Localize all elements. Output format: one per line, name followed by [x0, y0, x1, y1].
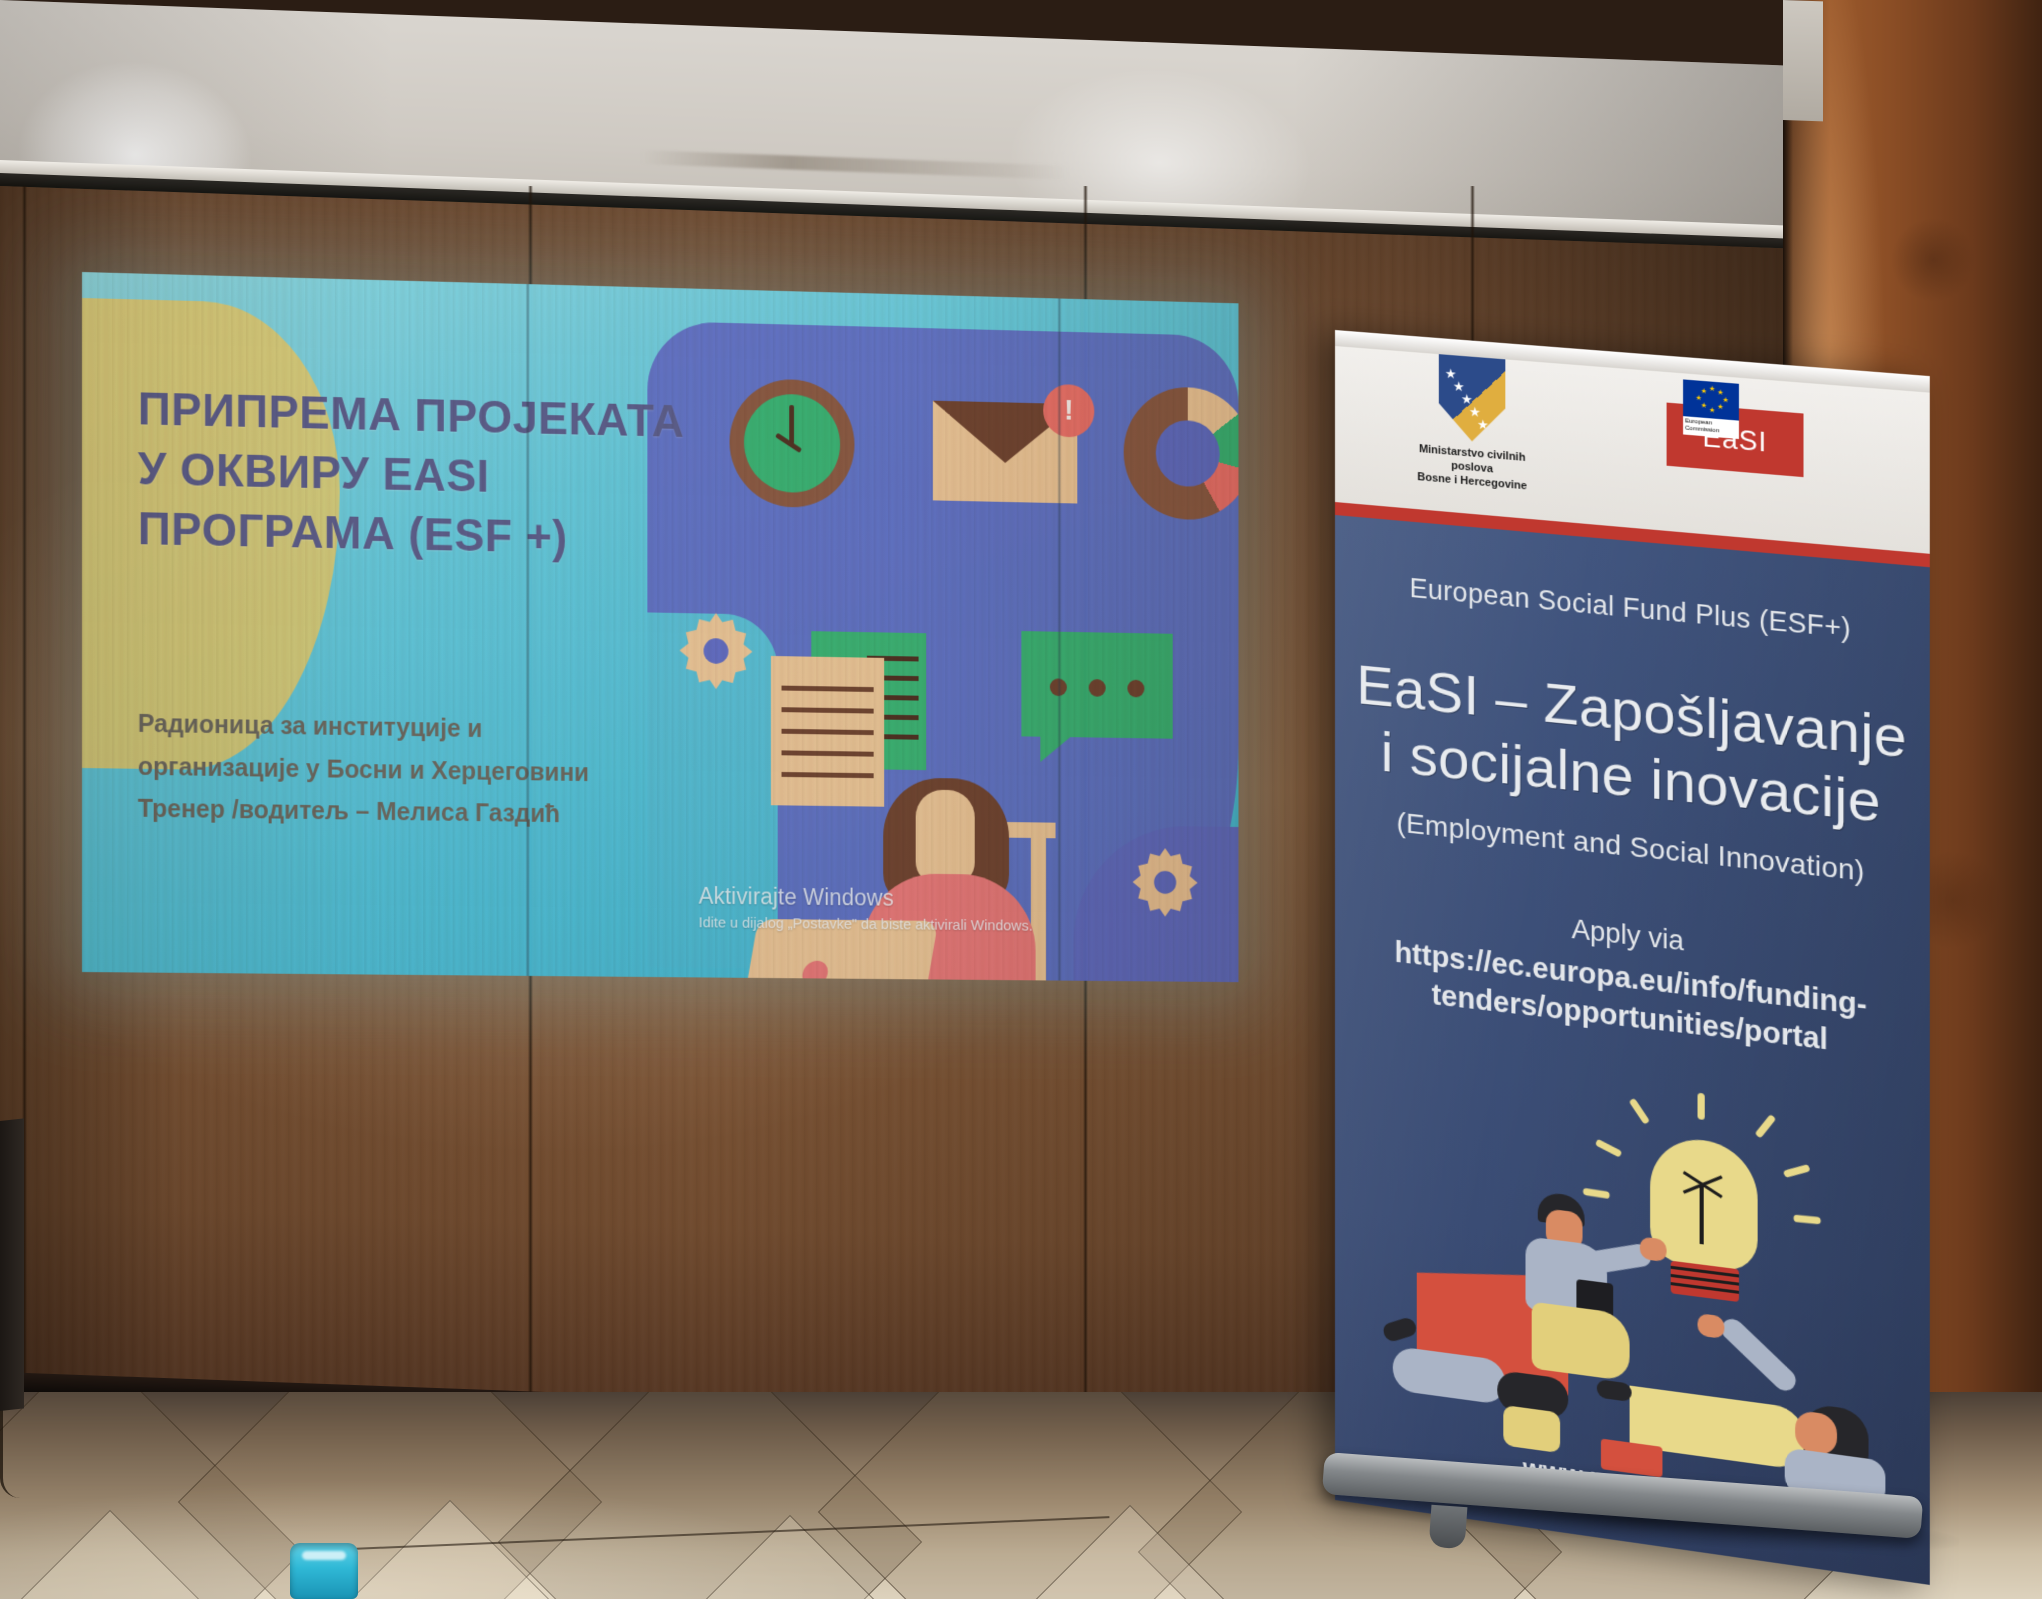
windows-activation-watermark: Aktivirajte Windows Idite u dijalog „Pos… [699, 883, 1044, 936]
bih-coat-of-arms-icon: ★ ★ ★ ★ ★ [1439, 354, 1506, 444]
banner-person-shoe-icon [1381, 1316, 1419, 1343]
eu-star-icon: ★ [1717, 389, 1724, 397]
eu-star-icon: ★ [1709, 386, 1715, 394]
watermark-title: Aktivirajte Windows [699, 883, 1044, 913]
eu-star-icon: ★ [1695, 395, 1701, 403]
banner-person-arm-icon [1717, 1314, 1800, 1395]
lightbulb-filament-icon [1700, 1185, 1704, 1245]
rollup-banner: ★ ★ ★ ★ ★ Ministarstvo civilnih poslova … [1335, 330, 1930, 1585]
column-top-wall-sliver [1783, 0, 1823, 121]
watermark-body: Idite u dijalog „Postavke" da biste akti… [699, 913, 1044, 936]
gear-icon [672, 605, 761, 697]
eu-star-icon: ★ [1701, 402, 1707, 410]
lightbulb-ray-icon [1595, 1139, 1622, 1158]
speech-bubble-icon [1021, 631, 1172, 739]
banner-person-legs-icon [1532, 1302, 1630, 1382]
gear-icon [1126, 841, 1205, 924]
eu-star-icon: ★ [1717, 404, 1724, 412]
lightbulb-ray-icon [1793, 1215, 1820, 1225]
eu-star-icon: ★ [1709, 407, 1715, 415]
banner-person-hand-icon [1698, 1313, 1725, 1339]
screen-panel-seam [1057, 298, 1061, 980]
bih-ministry-logo: ★ ★ ★ ★ ★ Ministarstvo civilnih poslova … [1413, 352, 1532, 494]
bottle-cap-object [290, 1543, 358, 1599]
banner-stand-foot [1429, 1505, 1468, 1549]
eu-flag-icon: ★ ★ ★ ★ ★ ★ ★ ★ [1683, 379, 1739, 420]
notification-badge-icon: ! [1043, 384, 1094, 438]
banner-person-shoe-icon [1597, 1379, 1632, 1402]
projected-presentation-slide: ! [82, 272, 1238, 982]
bubble-dot-icon [1127, 680, 1144, 698]
star-icon: ★ [1477, 418, 1489, 432]
banner-person-legs-icon [1503, 1405, 1560, 1453]
lightbulb-ray-icon [1583, 1188, 1610, 1199]
photo-scene: ! [0, 0, 2042, 1599]
slide-title: ПРИПРЕМА ПРОЈЕКАТА У ОКВИРУ EASI ПРОГРАМ… [138, 379, 822, 572]
eu-star-icon: ★ [1701, 388, 1707, 396]
banner-illustration [1375, 1095, 1888, 1497]
lightbulb-ray-icon [1698, 1093, 1705, 1120]
bubble-dot-icon [1089, 679, 1106, 697]
slide-subtitle-line-3: Тренер /водитељ – Мелиса Газдић [138, 788, 841, 839]
screen-panel-seam [526, 284, 530, 976]
person-face-icon [916, 790, 975, 885]
slide-subtitle: Радионица за институције и организације … [138, 703, 841, 839]
lightbulb-ray-icon [1783, 1164, 1811, 1178]
equipment-stand-leg [0, 1118, 24, 1411]
